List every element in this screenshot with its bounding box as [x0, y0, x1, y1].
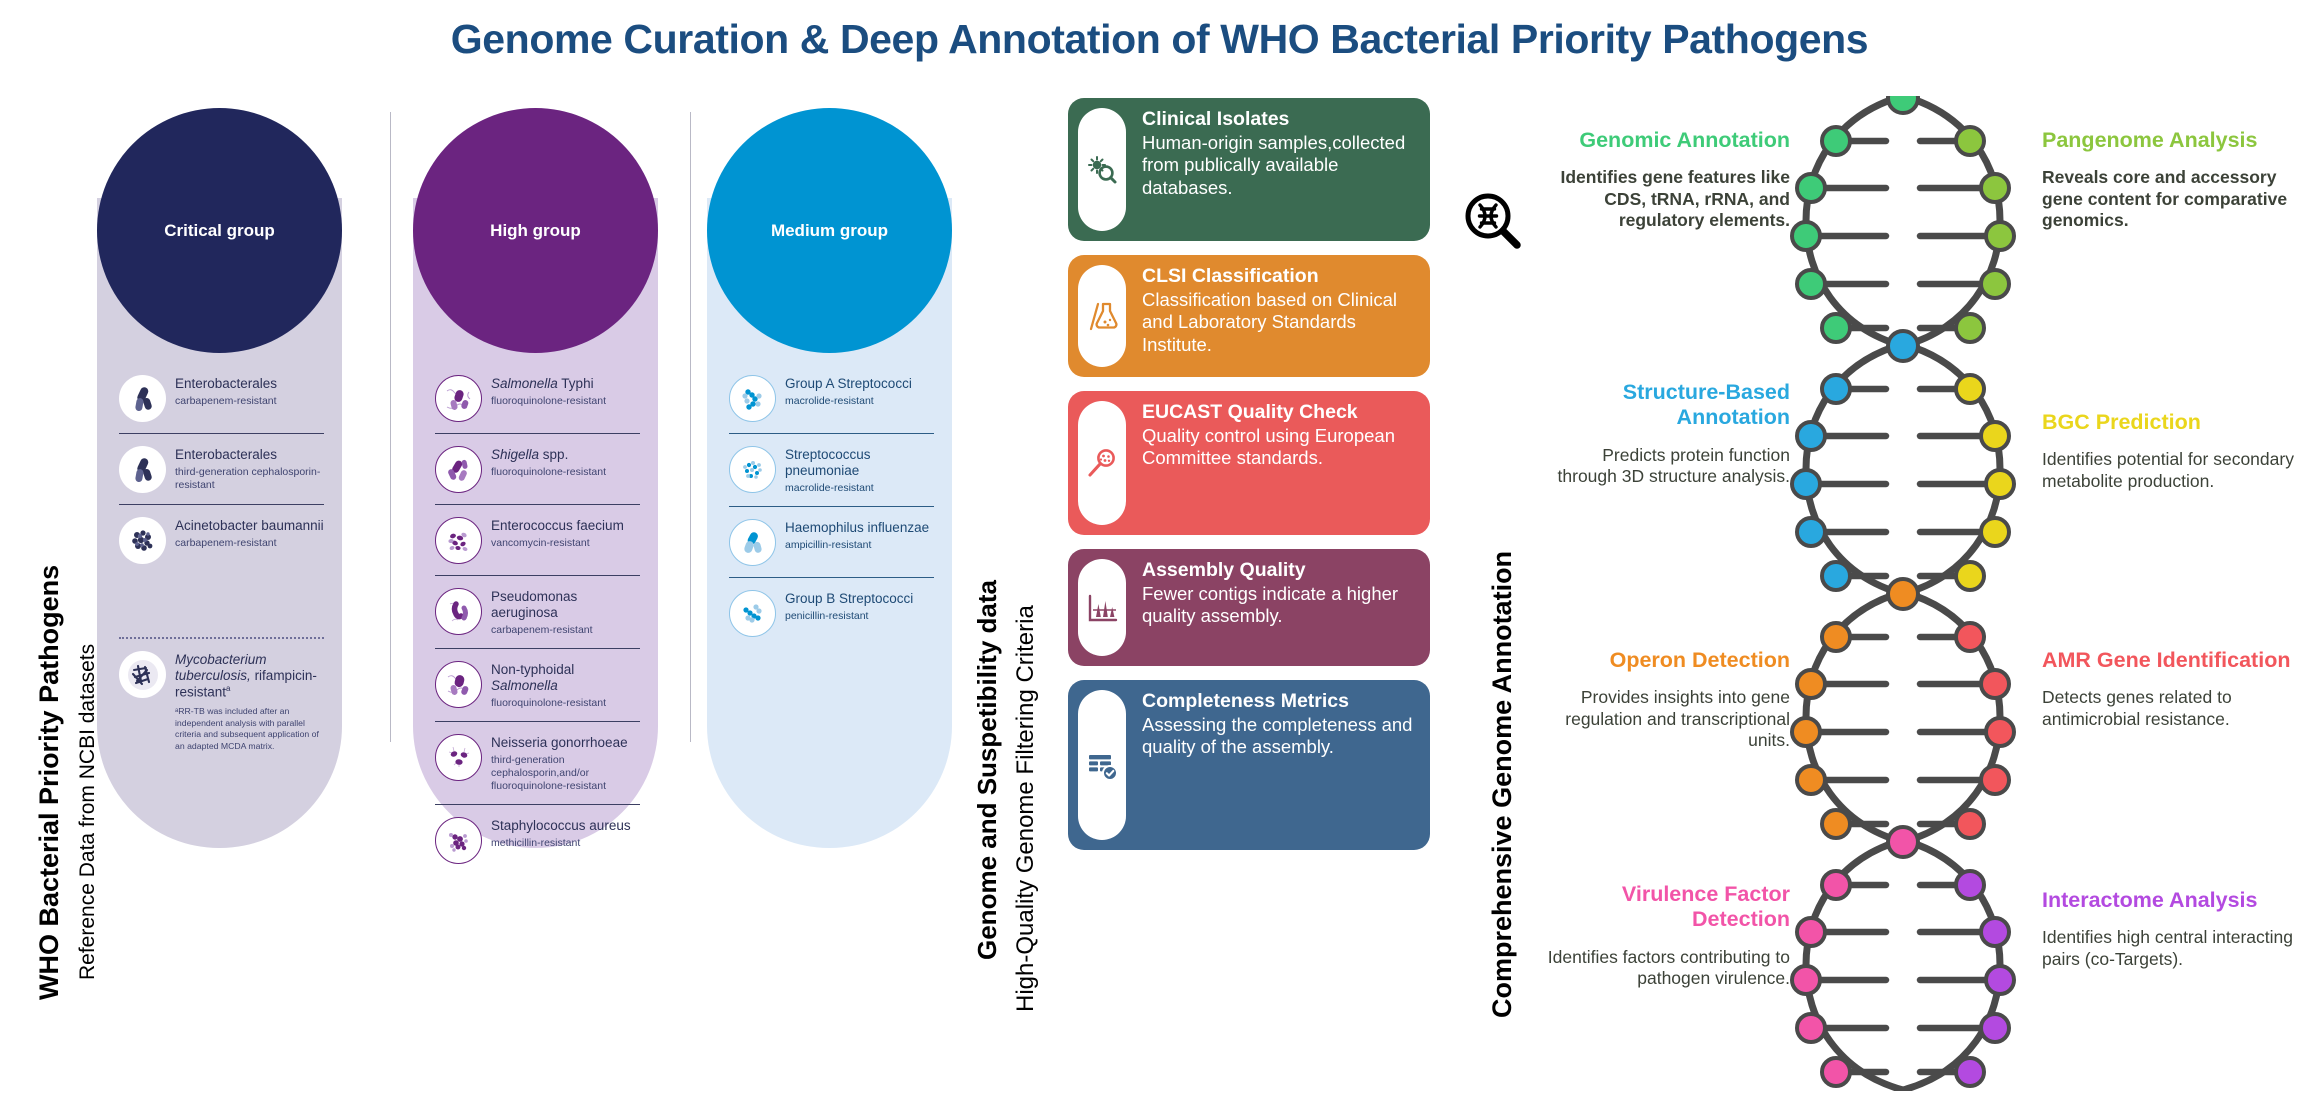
contig-chart-icon: [1085, 591, 1119, 625]
critical-pathogen-list: Enterobacterales carbapenem-resistant En…: [119, 363, 324, 763]
annotation-body: Identifies potential for secondary metab…: [2042, 449, 2312, 492]
annotation-interactome-analysis[interactable]: Interactome Analysis Identifies high cen…: [2042, 888, 2312, 970]
card-icon-pill: [1078, 690, 1126, 840]
pathogen-name: Enterobacterales: [175, 447, 324, 463]
annotation-body: Reveals core and accessory gene content …: [2042, 167, 2312, 231]
pathogen-name-italic: Salmonella: [491, 376, 558, 391]
page-title: Genome Curation & Deep Annotation of WHO…: [0, 16, 2319, 63]
rod-bacteria-icon: [119, 446, 166, 493]
pathogen-resistance: macrolide-resistant: [785, 482, 934, 495]
rod-bacteria-icon: [119, 375, 166, 422]
rod-bacteria-icon: [435, 446, 482, 493]
flagellated-rod-icon: [435, 375, 482, 422]
pathogen-name: Pseudomonas aeruginosa: [491, 589, 640, 621]
dna-helix-graphic: [1778, 96, 2028, 1091]
medium-pathogen-list: Group A Streptococci macrolide-resistant: [729, 363, 934, 648]
pathogen-name: Streptococcus pneumoniae: [785, 447, 934, 479]
pathogen-resistance: penicillin-resistant: [785, 610, 934, 623]
card-title: Completeness Metrics: [1142, 690, 1416, 712]
list-item[interactable]: Streptococcus pneumoniae macrolide-resis…: [729, 433, 934, 506]
flagellated-rod-icon: [435, 661, 482, 708]
card-body: Fewer contigs indicate a higher quality …: [1142, 583, 1416, 627]
annotation-title: Operon Detection: [1545, 648, 1790, 673]
pathogen-name-plain: spp.: [539, 447, 568, 462]
coccobacilli-icon: [729, 519, 776, 566]
pathogen-name: Group B Streptococci: [785, 591, 934, 607]
pathogen-resistance: macrolide-resistant: [785, 395, 934, 408]
who-section-label: WHO Bacterial Priority Pathogens: [34, 565, 65, 1000]
dna-segment-3: [1792, 579, 2014, 842]
annotation-operon-detection[interactable]: Operon Detection Provides insights into …: [1545, 648, 1790, 751]
cocci-cluster-icon: [119, 517, 166, 564]
pathogen-resistance: fluoroquinolone-resistant: [491, 466, 640, 479]
mycobacteria-icon: [119, 651, 166, 698]
card-icon-pill: [1078, 559, 1126, 656]
list-item[interactable]: Enterobacterales carbapenem-resistant: [119, 363, 324, 433]
annotation-title: Virulence Factor Detection: [1545, 882, 1790, 933]
high-group-header[interactable]: High group: [413, 108, 658, 353]
high-group-title: High group: [490, 221, 581, 241]
annotation-pangenome-analysis[interactable]: Pangenome Analysis Reveals core and acce…: [2042, 128, 2312, 231]
card-title: CLSI Classification: [1142, 265, 1416, 287]
list-item-footnote[interactable]: Mycobacterium tuberculosis, rifampicin-r…: [119, 637, 324, 763]
flagellated-rod-icon: [435, 588, 482, 635]
annotation-body: Detects genes related to antimicrobial r…: [2042, 687, 2312, 730]
pathogen-name-italic: Shigella: [491, 447, 539, 462]
critical-group-header[interactable]: Critical group: [97, 108, 342, 353]
pathogen-name: Haemophilus influenzae: [785, 520, 934, 536]
strep-chain-icon: [729, 590, 776, 637]
pathogen-resistance: fluoroquinolone-resistant: [491, 697, 640, 710]
dna-helix-svg: [1778, 96, 2028, 1091]
strep-chain-icon: [729, 375, 776, 422]
footnote-text: ᵃRR-TB was included after an independent…: [175, 706, 324, 752]
pathogen-resistance: carbapenem-resistant: [491, 624, 640, 637]
card-body: Quality control using European Committee…: [1142, 425, 1416, 469]
list-item[interactable]: Staphylococcus aureus methicillin-resist…: [435, 804, 640, 875]
list-item[interactable]: Shigella spp. fluoroquinolone-resistant: [435, 433, 640, 504]
medium-group-title: Medium group: [771, 221, 888, 241]
diplococci-icon: [435, 734, 482, 781]
criteria-card-assembly-quality[interactable]: Assembly Quality Fewer contigs indicate …: [1068, 549, 1430, 666]
card-title: EUCAST Quality Check: [1142, 401, 1416, 423]
card-title: Assembly Quality: [1142, 559, 1416, 581]
list-item[interactable]: Haemophilus influenzae ampicillin-resist…: [729, 506, 934, 577]
critical-group-title: Critical group: [164, 221, 275, 241]
dna-segment-1: [1792, 96, 2014, 346]
annotation-body: Identifies gene features like CDS, tRNA,…: [1545, 167, 1790, 231]
pathogen-name: Neisseria gonorrhoeae: [491, 735, 640, 751]
pathogen-name-plain: Typhi: [558, 376, 594, 391]
footnote-marker: a: [226, 684, 230, 693]
flask-icon: [1085, 299, 1119, 333]
diplococci-icon: [729, 446, 776, 493]
annotation-genomic-annotation[interactable]: Genomic Annotation Identifies gene featu…: [1545, 128, 1790, 231]
annotation-bgc-prediction[interactable]: BGC Prediction Identifies potential for …: [2042, 410, 2312, 492]
list-item[interactable]: Non-typhoidal Salmonella fluoroquinolone…: [435, 648, 640, 721]
list-item[interactable]: Group A Streptococci macrolide-resistant: [729, 363, 934, 433]
annotation-structure-based-annotation[interactable]: Structure-Based Annotation Predicts prot…: [1545, 380, 1790, 487]
annotation-body: Predicts protein function through 3D str…: [1545, 445, 1790, 488]
high-pathogen-list: Salmonella Typhi fluoroquinolone-resista…: [435, 363, 640, 875]
annotation-title: Genomic Annotation: [1545, 128, 1790, 153]
criteria-section-label: Genome and Suspetibility data: [972, 580, 1003, 960]
criteria-card-list: Clinical Isolates Human-origin samples,c…: [1068, 98, 1430, 864]
medium-group-header[interactable]: Medium group: [707, 108, 952, 353]
cocci-chain-icon: [435, 517, 482, 564]
column-divider: [390, 112, 391, 742]
dna-magnifier-icon: [1462, 190, 1524, 257]
column-divider: [690, 112, 691, 742]
microbe-search-icon: [1085, 153, 1119, 187]
cocci-cluster-icon: [435, 817, 482, 864]
dna-segment-4: [1792, 827, 2014, 1090]
annotation-title: Pangenome Analysis: [2042, 128, 2312, 153]
annotation-title: Interactome Analysis: [2042, 888, 2312, 913]
pathogen-resistance: third-generation cephalosporin-resistant: [175, 466, 324, 492]
annotation-section-label: Comprehensive Genome Annotation: [1487, 551, 1518, 1018]
pathogen-resistance: vancomycin-resistant: [491, 537, 640, 550]
list-item[interactable]: Pseudomonas aeruginosa carbapenem-resist…: [435, 575, 640, 648]
annotation-body: Provides insights into gene regulation a…: [1545, 687, 1790, 751]
criteria-card-eucast[interactable]: EUCAST Quality Check Quality control usi…: [1068, 391, 1430, 535]
criteria-card-completeness[interactable]: Completeness Metrics Assessing the compl…: [1068, 680, 1430, 850]
criteria-card-clsi[interactable]: CLSI Classification Classification based…: [1068, 255, 1430, 377]
card-icon-pill: [1078, 108, 1126, 231]
pathogen-resistance: ampicillin-resistant: [785, 539, 934, 552]
card-body: Assessing the completeness and quality o…: [1142, 714, 1416, 758]
pathogen-name: Group A Streptococci: [785, 376, 934, 392]
pathogen-name: Staphylococcus aureus: [491, 818, 640, 834]
pathogen-name-prefix: Non-typhoidal: [491, 662, 574, 677]
annotation-title: BGC Prediction: [2042, 410, 2312, 435]
list-item[interactable]: Group B Streptococci penicillin-resistan…: [729, 577, 934, 648]
pathogen-name-italic: Salmonella: [491, 678, 558, 693]
table-check-icon: [1085, 748, 1119, 782]
pathogen-name-italic: Mycobacterium tuberculosis,: [175, 652, 267, 683]
annotation-virulence-factor-detection[interactable]: Virulence Factor Detection Identifies fa…: [1545, 882, 1790, 989]
pathogen-name: Acinetobacter baumannii: [175, 518, 324, 534]
petri-loop-icon: [1085, 446, 1119, 480]
annotation-amr-gene-identification[interactable]: AMR Gene Identification Detects genes re…: [2042, 648, 2312, 730]
list-item[interactable]: Salmonella Typhi fluoroquinolone-resista…: [435, 363, 640, 433]
pathogen-resistance: carbapenem-resistant: [175, 395, 324, 408]
annotation-body: Identifies high central interacting pair…: [2042, 927, 2312, 970]
list-item[interactable]: Enterobacterales third-generation cephal…: [119, 433, 324, 504]
criteria-section-sublabel: High-Quality Genome Filtering Criteria: [1012, 605, 1040, 1012]
card-body: Human-origin samples,collected from publ…: [1142, 132, 1416, 199]
pathogen-resistance: carbapenem-resistant: [175, 537, 324, 550]
pathogen-resistance: third-generation cephalosporin,and/or fl…: [491, 754, 640, 793]
pathogen-name: Enterococcus faecium: [491, 518, 640, 534]
dna-segment-2: [1792, 331, 2014, 594]
criteria-card-clinical-isolates[interactable]: Clinical Isolates Human-origin samples,c…: [1068, 98, 1430, 241]
card-icon-pill: [1078, 401, 1126, 525]
card-title: Clinical Isolates: [1142, 108, 1416, 130]
annotation-body: Identifies factors contributing to patho…: [1545, 947, 1790, 990]
card-icon-pill: [1078, 265, 1126, 367]
list-item[interactable]: Neisseria gonorrhoeae third-generation c…: [435, 721, 640, 804]
pathogen-resistance: fluoroquinolone-resistant: [491, 395, 640, 408]
list-item[interactable]: Acinetobacter baumannii carbapenem-resis…: [119, 504, 324, 575]
pathogen-resistance: methicillin-resistant: [491, 837, 640, 850]
annotation-title: AMR Gene Identification: [2042, 648, 2312, 673]
pathogen-name: Enterobacterales: [175, 376, 324, 392]
annotation-title: Structure-Based Annotation: [1545, 380, 1790, 431]
card-body: Classification based on Clinical and Lab…: [1142, 289, 1416, 356]
list-item[interactable]: Enterococcus faecium vancomycin-resistan…: [435, 504, 640, 575]
